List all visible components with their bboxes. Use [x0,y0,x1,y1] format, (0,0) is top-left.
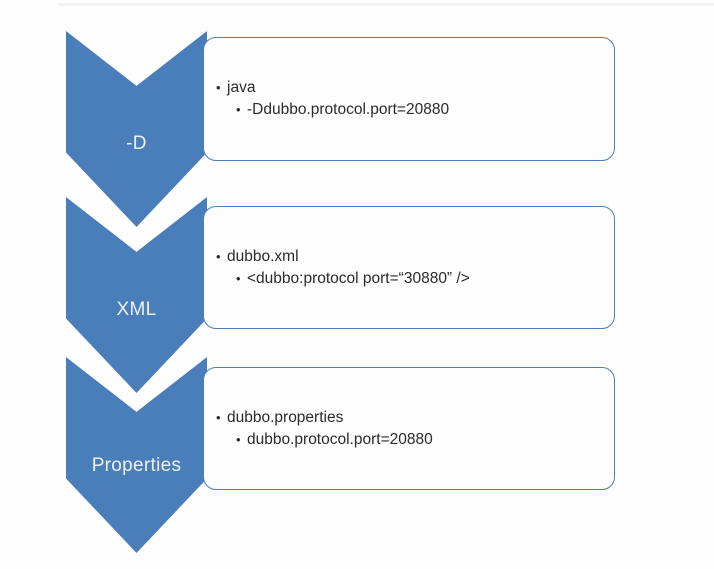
bullet-text: dubbo.properties [227,407,343,429]
bullet-item: • dubbo.xml [216,246,604,268]
chevron-step-1: -D [66,31,207,227]
bullet-dot-icon: • [216,409,227,427]
bullet-item: • java [216,77,604,99]
bullet-text: -Ddubbo.protocol.port=20880 [247,99,449,121]
bullet-dot-icon: • [236,431,247,449]
bullet-text: <dubbo:protocol port=“30880” /> [247,268,470,290]
callout-step-1-bullets: • java • -Ddubbo.protocol.port=20880 [216,77,604,121]
chevron-step-2-label: XML [117,300,157,319]
bullet-text: java [227,77,255,99]
callout-step-3-bullets: • dubbo.properties • dubbo.protocol.port… [216,407,604,451]
bullet-text: dubbo.protocol.port=20880 [247,429,433,451]
bullet-dot-icon: • [216,79,227,97]
chevron-step-1-label: -D [126,134,147,153]
bullet-item: • -Ddubbo.protocol.port=20880 [216,99,604,121]
chevron-step-3-label: Properties [92,456,182,475]
bullet-item: • dubbo.properties [216,407,604,429]
top-divider-rule [59,3,714,6]
callout-step-3: • dubbo.properties • dubbo.protocol.port… [203,367,615,490]
bullet-item: • dubbo.protocol.port=20880 [216,429,604,451]
bullet-text: dubbo.xml [227,246,299,268]
bullet-dot-icon: • [236,270,247,288]
callout-step-2: • dubbo.xml • <dubbo:protocol port=“3088… [203,206,615,329]
callout-step-2-bullets: • dubbo.xml • <dubbo:protocol port=“3088… [216,246,604,290]
callout-step-1: • java • -Ddubbo.protocol.port=20880 [203,37,615,161]
bullet-dot-icon: • [236,101,247,119]
diagram-canvas: -D • java • -Ddubbo.protocol.port=20880 … [0,0,714,569]
bullet-dot-icon: • [216,248,227,266]
bullet-item: • <dubbo:protocol port=“30880” /> [216,268,604,290]
